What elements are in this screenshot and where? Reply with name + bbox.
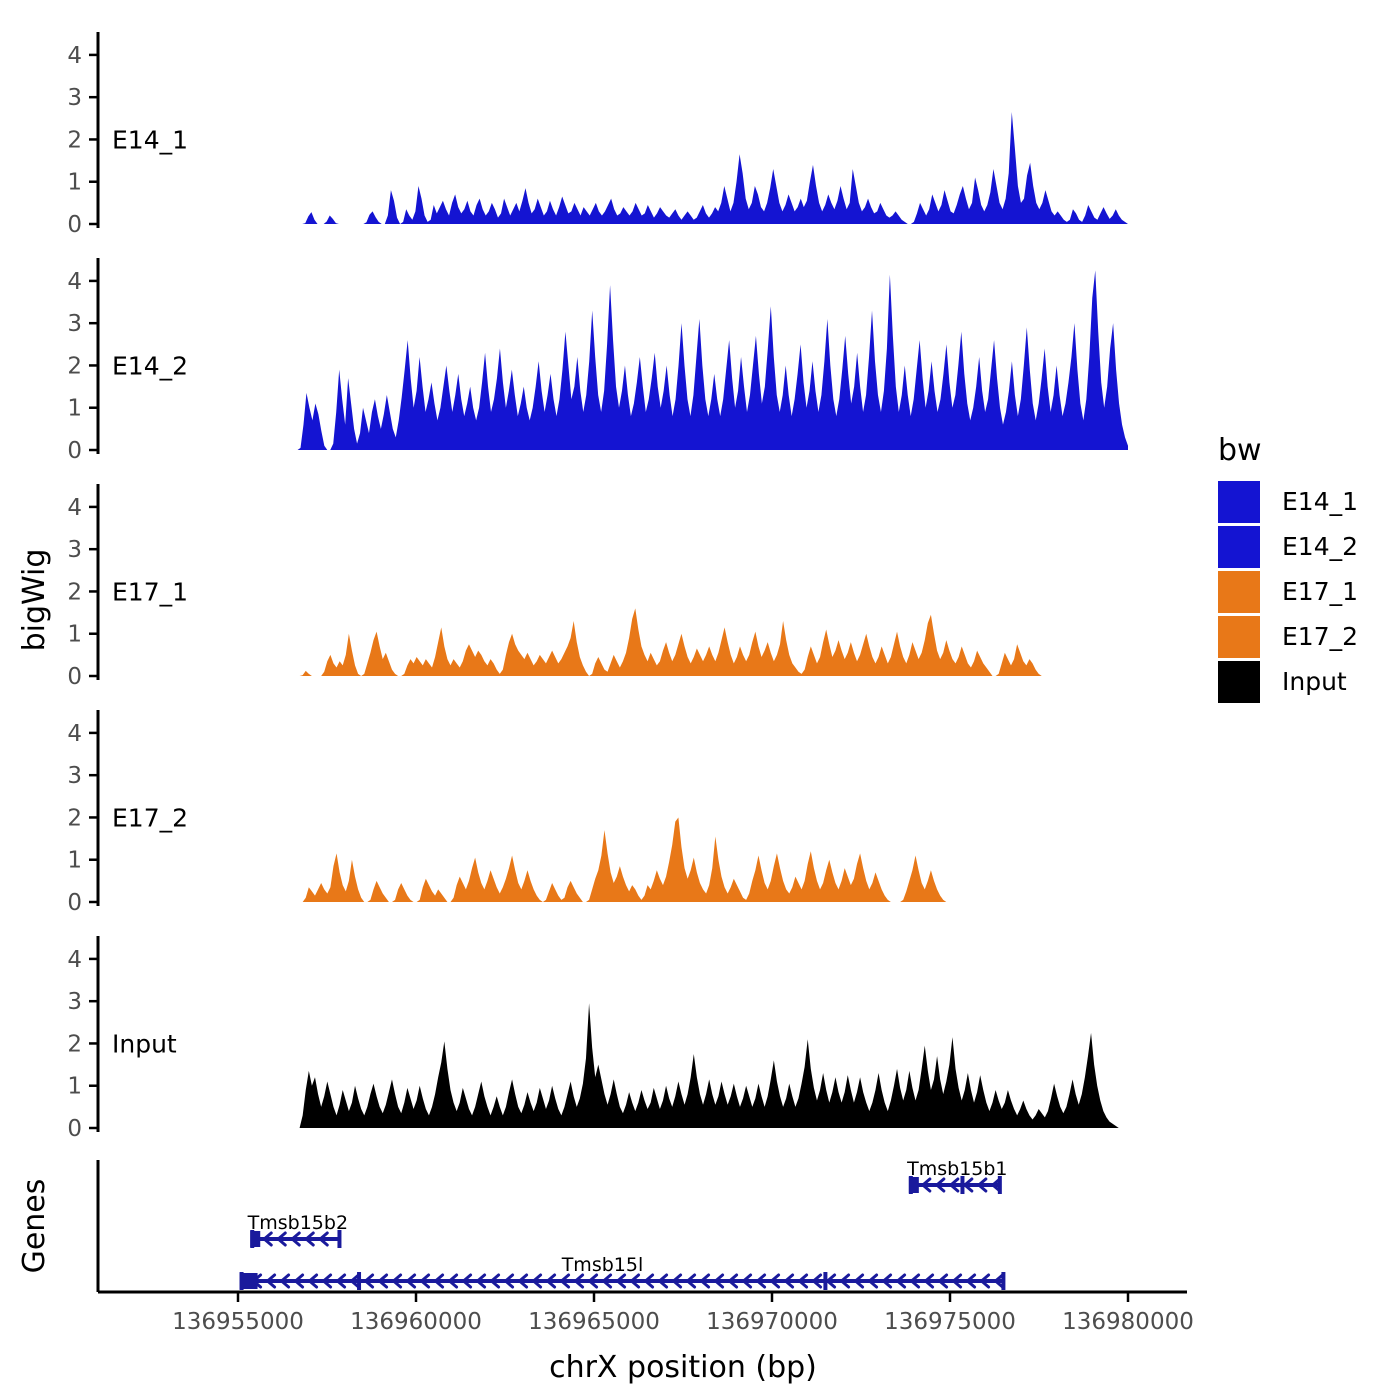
y-tick-label: 0 [67, 664, 82, 690]
track-panel-e17_2: 01234E17_2 [67, 710, 1128, 916]
legend-label: E14_1 [1282, 487, 1358, 516]
genes-panel: GenesTmsb15b1Tmsb15b2Tmsb15l136955000136… [17, 1158, 1194, 1385]
x-tick-label: 136975000 [884, 1309, 1016, 1335]
legend-item-e14_2[interactable]: E14_2 [1218, 526, 1358, 568]
track-area-e17_2 [238, 817, 1128, 902]
y-tick-label: 2 [67, 1031, 82, 1057]
y-tick-label: 3 [67, 537, 82, 563]
y-tick-label: 1 [67, 848, 82, 874]
legend-swatch [1218, 526, 1260, 568]
y-tick-label: 0 [67, 890, 82, 916]
y-tick-label: 3 [67, 85, 82, 111]
track-name-label: Input [112, 1029, 177, 1058]
x-tick-label: 136970000 [706, 1309, 838, 1335]
y-tick-label: 3 [67, 311, 82, 337]
x-axis-title: chrX position (bp) [549, 1350, 817, 1385]
genes-group-label: Genes [17, 1179, 52, 1274]
track-panel-e14_1: 01234E14_1 [67, 32, 1128, 238]
track-panel-input: 01234Input [67, 936, 1128, 1142]
y-tick-label: 1 [67, 1074, 82, 1100]
legend-item-input[interactable]: Input [1218, 661, 1347, 703]
y-tick-label: 2 [67, 353, 82, 379]
track-name-label: E14_1 [112, 125, 188, 154]
track-panel-e17_1: 01234E17_1 [67, 484, 1128, 690]
x-tick-label: 136960000 [350, 1309, 482, 1335]
y-tick-label: 1 [67, 396, 82, 422]
figure-canvas: bigWig01234E14_101234E14_201234E17_10123… [0, 0, 1400, 1400]
y-tick-label: 0 [67, 438, 82, 464]
y-tick-label: 4 [67, 721, 82, 747]
legend-label: E17_1 [1282, 577, 1358, 606]
legend-label: E17_2 [1282, 622, 1358, 651]
gene-model-tmsb15l[interactable]: Tmsb15l [240, 1254, 1004, 1290]
legend-swatch [1218, 571, 1260, 613]
gene-model-tmsb15b2[interactable]: Tmsb15b2 [247, 1212, 348, 1248]
y-tick-label: 1 [67, 622, 82, 648]
y-tick-label: 3 [67, 763, 82, 789]
legend-swatch [1218, 481, 1260, 523]
y-tick-label: 4 [67, 269, 82, 295]
track-panel-e14_2: 01234E14_2 [67, 258, 1128, 464]
legend-item-e17_1[interactable]: E17_1 [1218, 571, 1358, 613]
x-tick-label: 136965000 [528, 1309, 660, 1335]
gene-name-label: Tmsb15b2 [247, 1212, 348, 1234]
gene-model-tmsb15b1[interactable]: Tmsb15b1 [906, 1158, 1007, 1194]
legend[interactable]: bwE14_1E14_2E17_1E17_2Input [1218, 433, 1358, 703]
legend-swatch [1218, 661, 1260, 703]
y-tick-label: 2 [67, 805, 82, 831]
legend-label: E14_2 [1282, 532, 1358, 561]
track-area-input [238, 1003, 1128, 1128]
legend-item-e17_2[interactable]: E17_2 [1218, 616, 1358, 658]
track-area-e17_1 [238, 608, 1128, 676]
gene-name-label: Tmsb15b1 [906, 1158, 1007, 1180]
legend-label: Input [1282, 667, 1347, 696]
legend-swatch [1218, 616, 1260, 658]
y-tick-label: 2 [67, 127, 82, 153]
y-tick-label: 2 [67, 579, 82, 605]
track-name-label: E17_1 [112, 577, 188, 606]
y-tick-label: 4 [67, 947, 82, 973]
x-tick-label: 136955000 [172, 1309, 304, 1335]
legend-item-e14_1[interactable]: E14_1 [1218, 481, 1358, 523]
gene-name-label: Tmsb15l [561, 1254, 644, 1276]
y-tick-label: 4 [67, 495, 82, 521]
y-tick-label: 4 [67, 43, 82, 69]
y-tick-label: 1 [67, 170, 82, 196]
y-tick-label: 0 [67, 212, 82, 238]
track-area-e14_1 [238, 112, 1128, 224]
legend-title: bw [1218, 433, 1262, 468]
track-name-label: E14_2 [112, 351, 188, 380]
x-tick-label: 136980000 [1062, 1309, 1194, 1335]
track-area-e14_2 [238, 270, 1128, 450]
y-tick-label: 3 [67, 989, 82, 1015]
track-name-label: E17_2 [112, 803, 188, 832]
genome-browser-figure: bigWig01234E14_101234E14_201234E17_10123… [0, 0, 1400, 1400]
y-tick-label: 0 [67, 1116, 82, 1142]
y-axis-group-label: bigWig [17, 549, 52, 652]
